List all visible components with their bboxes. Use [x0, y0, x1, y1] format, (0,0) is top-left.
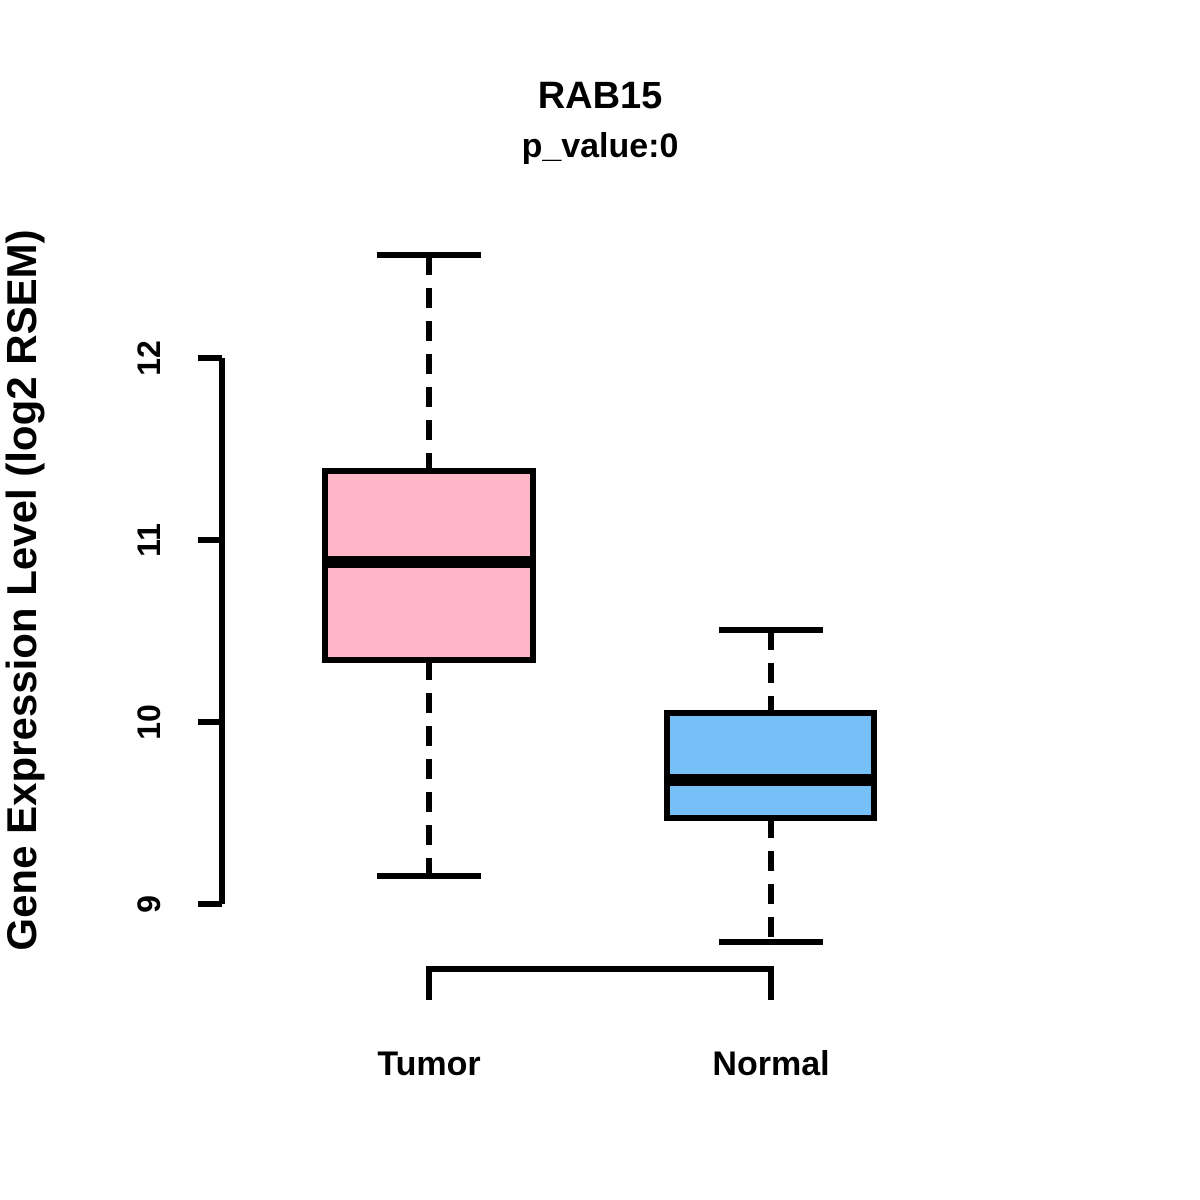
- y-axis-title: Gene Expression Level (log2 RSEM): [0, 229, 45, 950]
- boxplot-figure: RAB15 p_value:0 Gene Expression Level (l…: [0, 0, 1200, 1200]
- y-tick-label-9: 9: [131, 895, 167, 913]
- boxplot-canvas: RAB15 p_value:0 Gene Expression Level (l…: [0, 0, 1200, 1200]
- y-tick-label-12: 12: [131, 340, 167, 376]
- y-tick-label-11: 11: [131, 523, 167, 557]
- x-tick-label-tumor: Tumor: [377, 1045, 480, 1083]
- box-group-normal[interactable]: [667, 630, 874, 942]
- normal-iqr-box[interactable]: [667, 713, 874, 818]
- x-axis: Tumor Normal: [377, 969, 829, 1083]
- y-tick-label-10: 10: [131, 704, 167, 740]
- x-tick-label-normal: Normal: [712, 1045, 829, 1083]
- chart-title: RAB15: [538, 75, 663, 117]
- box-group-tumor[interactable]: [325, 255, 533, 876]
- y-axis: 12 11 10 9: [131, 340, 222, 913]
- chart-subtitle-pvalue: p_value:0: [522, 127, 679, 165]
- x-axis-spine: [429, 969, 771, 1000]
